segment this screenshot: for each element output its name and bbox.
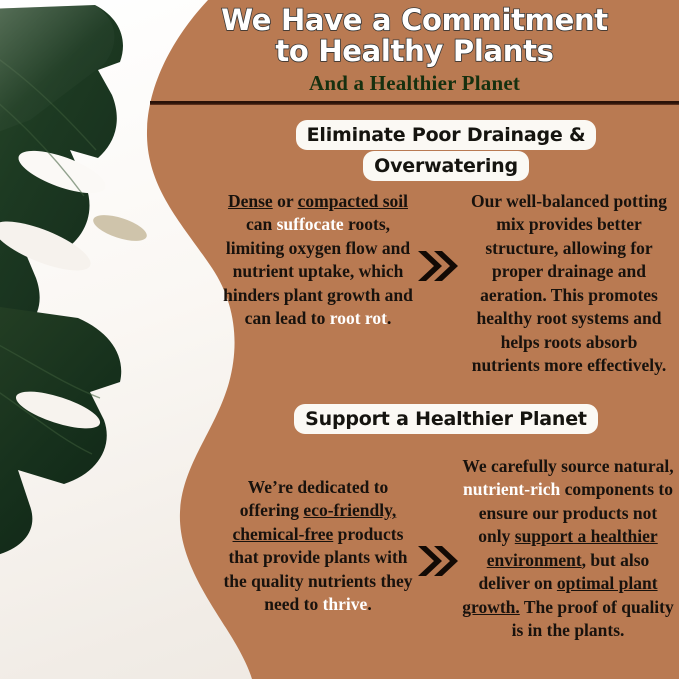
section-1-right-text: Our well-balanced potting mix provides b… [466,190,672,378]
section-2-heading-line-1: Support a Healthier Planet [294,404,598,434]
section-heading-drainage: Eliminate Poor Drainage & Overwatering [246,120,646,182]
page-subtitle: And a Healthier Planet [309,71,520,96]
header-divider [150,101,679,105]
section-1-left-text: Dense or compacted soil can suffocate ro… [218,190,418,331]
section-1-heading-line-1: Eliminate Poor Drainage & [296,120,597,150]
title-line-1: We Have a Commitment [221,5,608,36]
section-2-left-text: We’re dedicated to offering eco-friendly… [218,476,418,617]
infographic-canvas: We Have a Commitment to Healthy Plants A… [0,0,679,679]
section-2-right-text: We carefully source natural, nutrient-ri… [462,455,674,643]
title-line-2: to Healthy Plants [221,36,608,67]
header: We Have a Commitment to Healthy Plants A… [150,0,679,104]
section-1-heading-line-2: Overwatering [363,151,529,181]
double-chevron-right-icon [414,538,460,584]
page-title: We Have a Commitment to Healthy Plants [221,5,608,68]
section-heading-planet: Support a Healthier Planet [246,404,646,435]
double-chevron-right-icon [414,243,460,289]
